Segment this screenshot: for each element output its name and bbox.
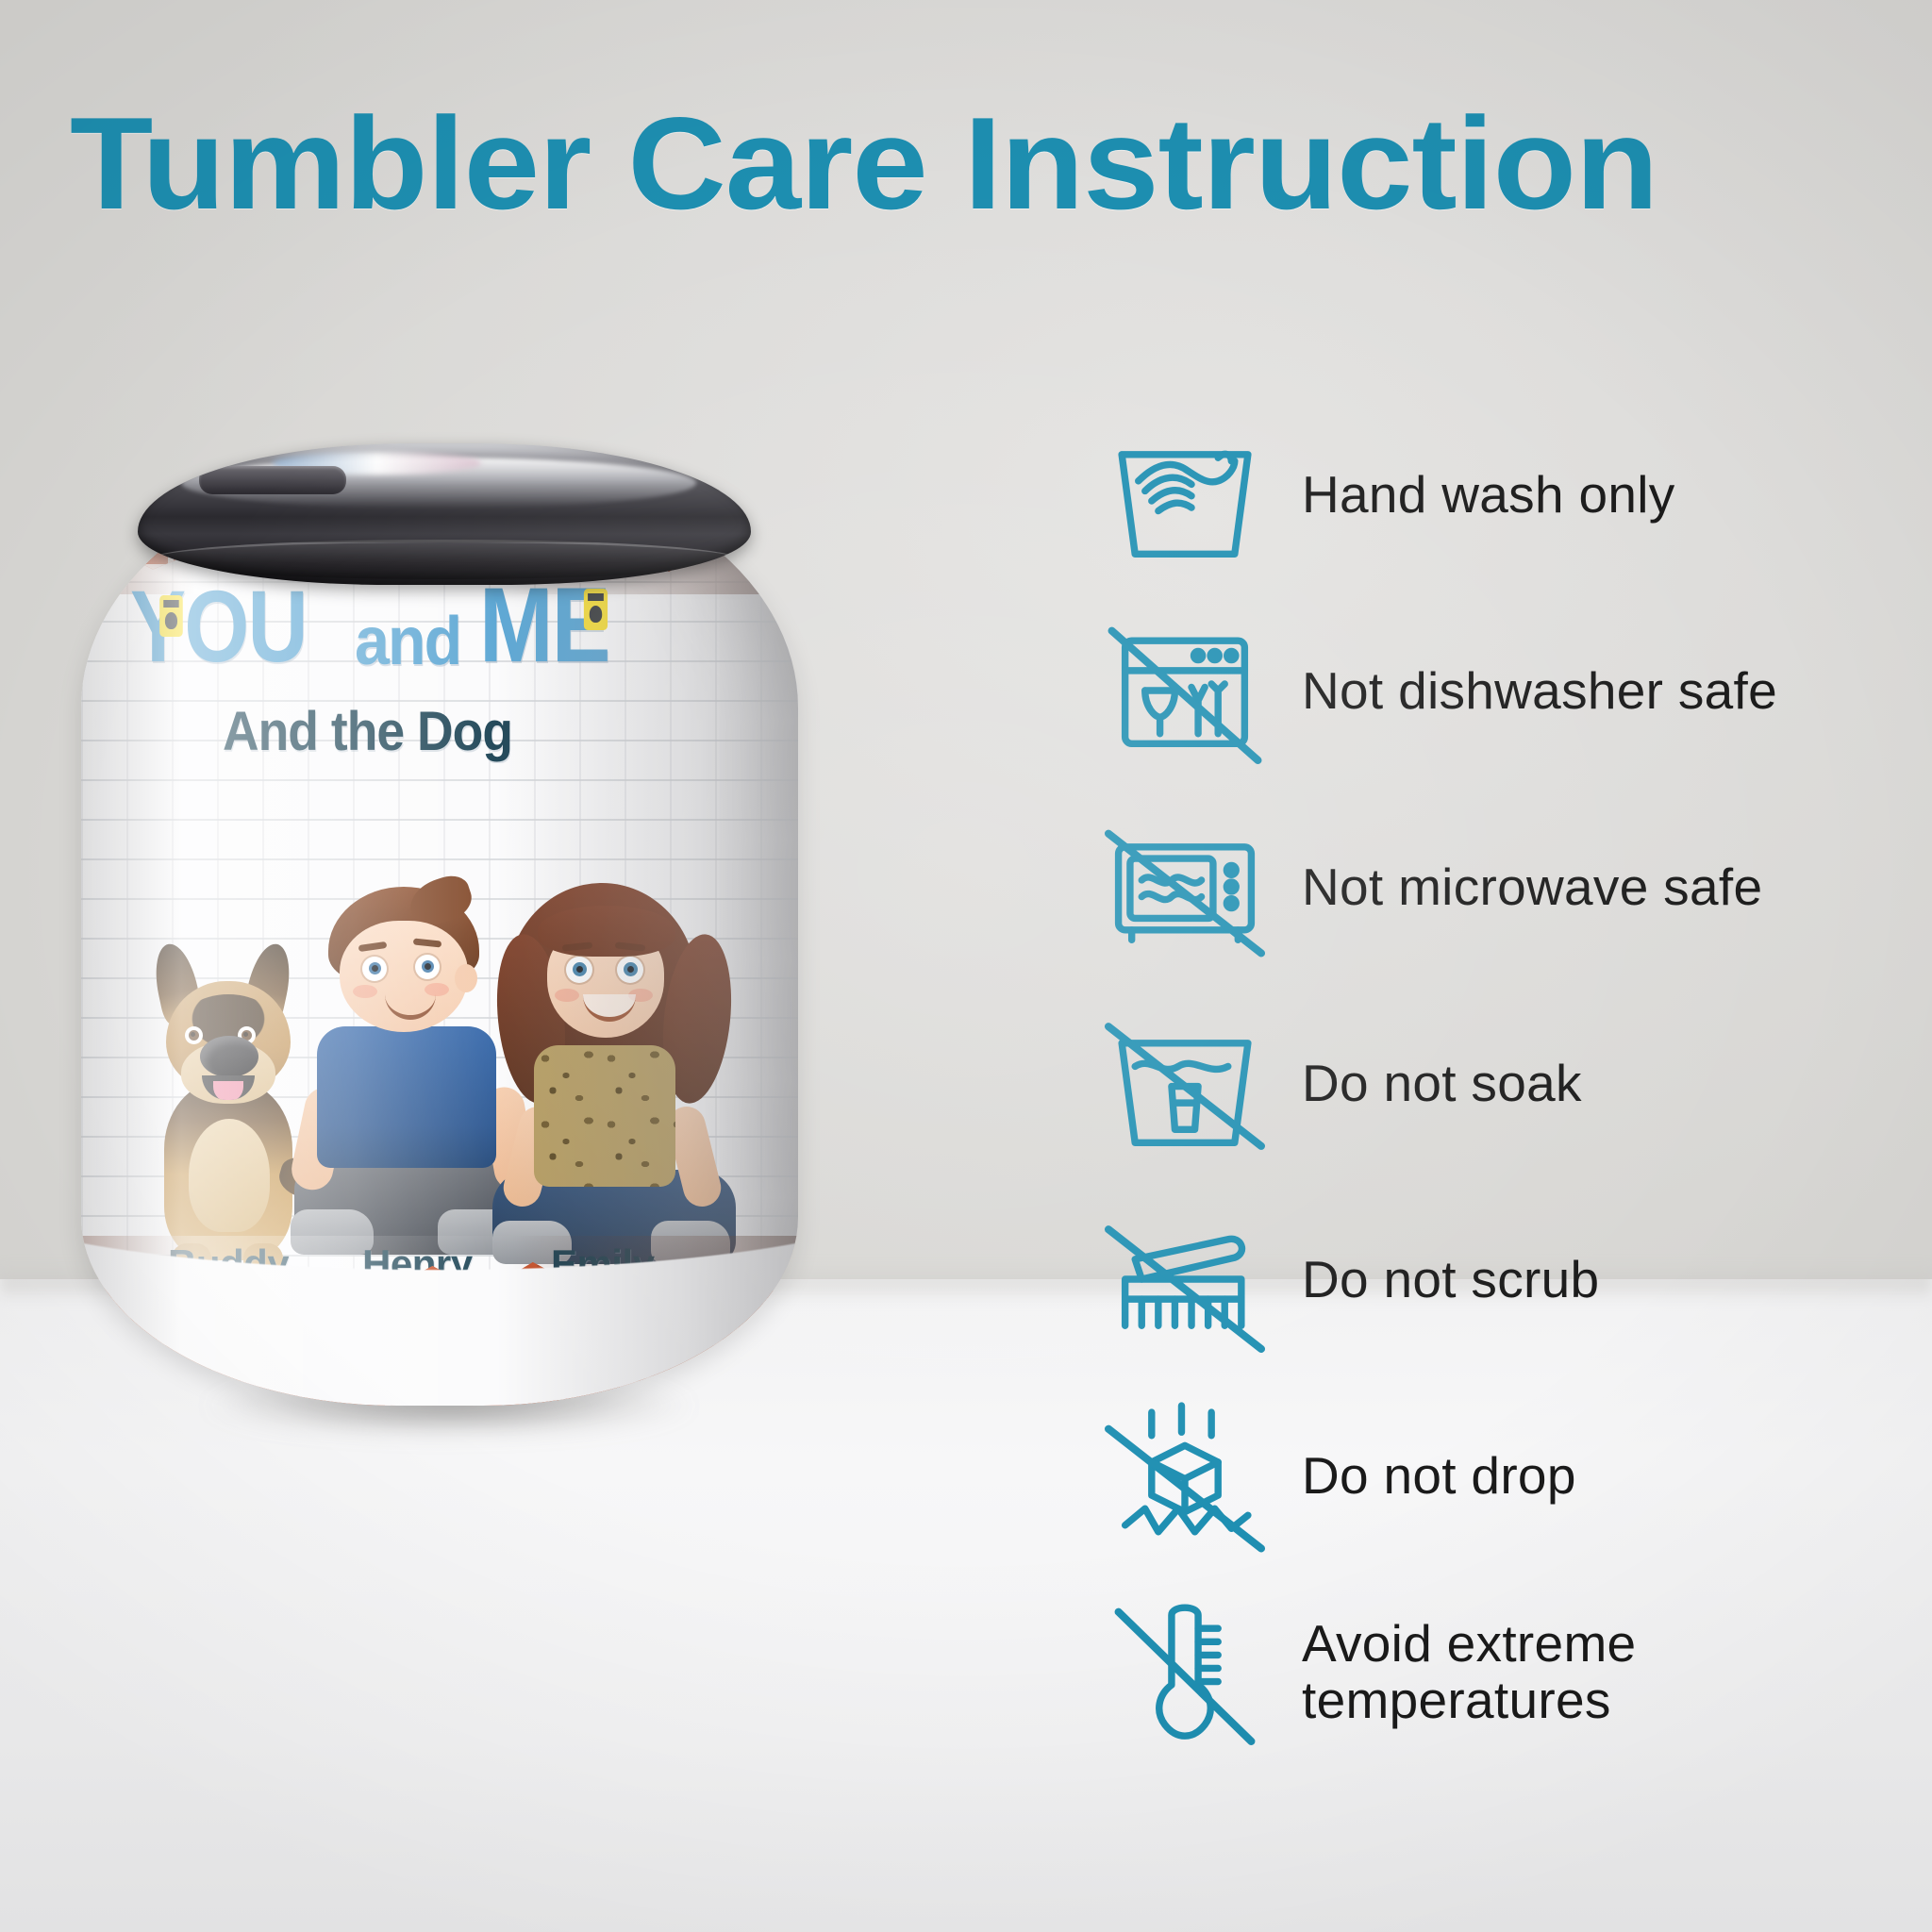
- page-title: Tumbler Care Instruction: [70, 98, 1932, 229]
- care-label: Not microwave safe: [1302, 858, 1762, 916]
- care-label: Do not scrub: [1302, 1251, 1599, 1308]
- care-instruction-page: Tumbler Care Instruction YOU: [0, 0, 1932, 1932]
- care-label: Avoid extreme temperatures: [1302, 1615, 1636, 1729]
- hand-wash-icon: [1102, 411, 1268, 577]
- care-instruction-list: Hand wash only Not dishwasher safe: [1102, 396, 1913, 1770]
- care-row: Do not scrub: [1102, 1181, 1913, 1377]
- lid-rim: [150, 540, 739, 579]
- no-soak-icon: [1102, 1000, 1268, 1166]
- tumbler-cylinder-shading: [81, 462, 798, 1406]
- care-label: Do not drop: [1302, 1447, 1576, 1505]
- lid-slider-opening: [199, 466, 346, 494]
- care-label: Do not soak: [1302, 1055, 1582, 1112]
- care-row: Not microwave safe: [1102, 789, 1913, 985]
- no-dishwasher-icon: [1102, 608, 1268, 774]
- care-row: Not dishwasher safe: [1102, 592, 1913, 789]
- care-row: Hand wash only: [1102, 396, 1913, 592]
- no-drop-icon: [1102, 1392, 1268, 1558]
- care-label: Hand wash only: [1302, 466, 1675, 524]
- care-row: Do not drop: [1102, 1377, 1913, 1574]
- tumbler-product-image: YOU and ME And the Dog: [81, 443, 798, 1424]
- care-label: Not dishwasher safe: [1302, 662, 1777, 720]
- care-row: Do not soak: [1102, 985, 1913, 1181]
- tumbler-body: YOU and ME And the Dog: [81, 462, 798, 1406]
- care-row: Avoid extreme temperatures: [1102, 1574, 1913, 1770]
- no-microwave-icon: [1102, 804, 1268, 970]
- no-extreme-temperature-icon: [1102, 1589, 1268, 1755]
- no-scrub-brush-icon: [1102, 1196, 1268, 1362]
